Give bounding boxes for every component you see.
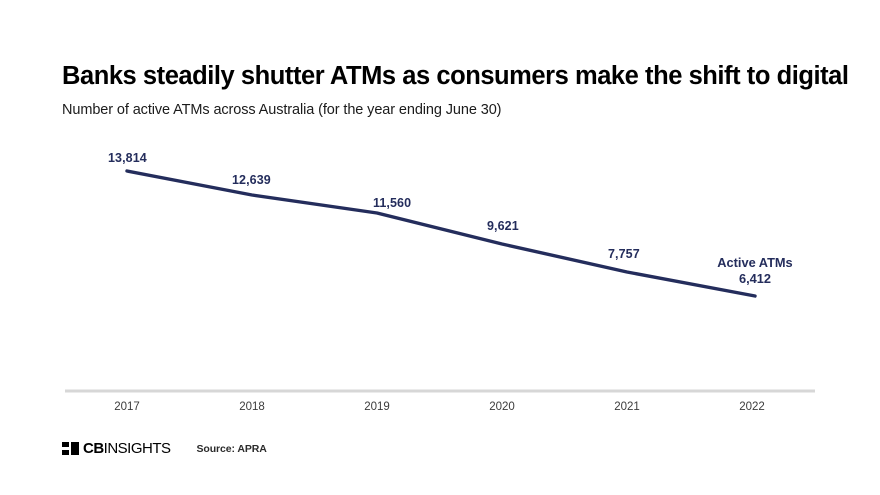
x-tick-2022: 2022 [717,401,787,413]
data-label-2019: 11,560 [373,196,411,210]
data-label-2018: 12,639 [232,173,271,187]
data-label-2017: 13,814 [108,151,147,165]
chart-card: Banks steadily shutter ATMs as consumers… [0,0,880,495]
cbinsights-logo-text: CBINSIGHTS [83,440,171,457]
logo-text-insights: INSIGHTS [104,440,171,457]
data-label-2021: 7,757 [608,247,640,261]
x-tick-2020: 2020 [467,401,537,413]
chart-footer: CBINSIGHTS Source: APRA [62,440,267,457]
source-note: Source: APRA [197,443,267,455]
series-annotation-active-atms: Active ATMs 6,412 [700,255,810,288]
x-tick-2018: 2018 [217,401,287,413]
x-tick-2019: 2019 [342,401,412,413]
cbinsights-logo: CBINSIGHTS [62,440,171,457]
x-tick-2017: 2017 [92,401,162,413]
line-chart-plot [0,0,880,495]
x-tick-2021: 2021 [592,401,662,413]
series-line-active-atms [127,171,755,296]
logo-text-cb: CB [83,440,104,457]
data-label-2022: 6,412 [700,271,810,287]
data-label-2020: 9,621 [487,219,519,233]
series-annotation-name: Active ATMs [700,255,810,271]
cbinsights-logo-mark-icon [62,442,79,455]
